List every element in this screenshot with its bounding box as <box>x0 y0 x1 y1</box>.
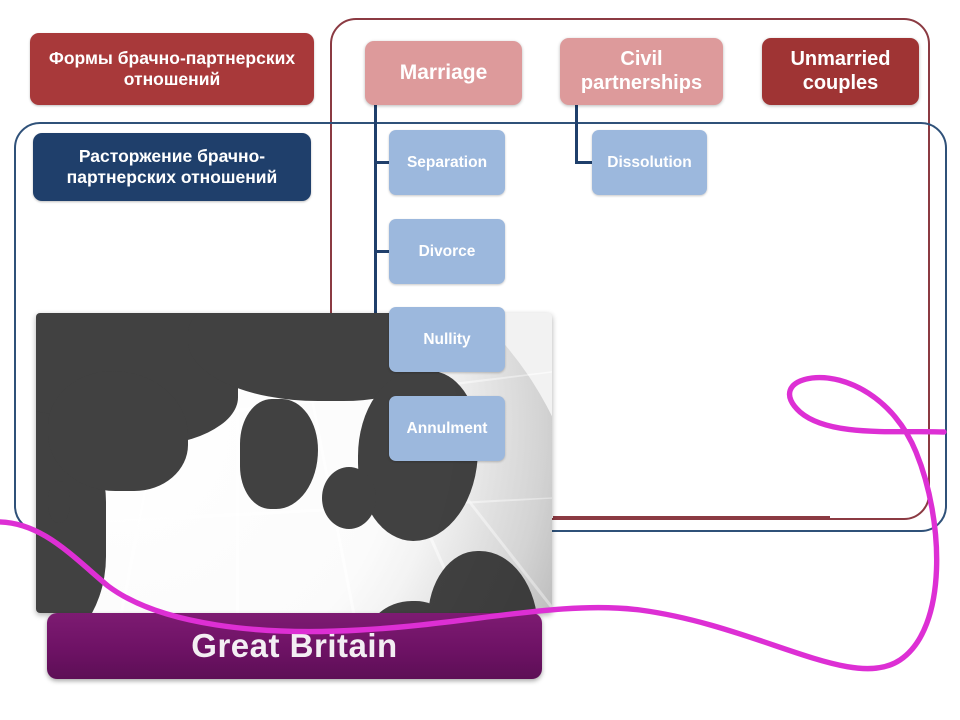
node-unmarried-couples[interactable]: Unmarried couples <box>762 38 919 105</box>
divider-rule-maroon <box>553 516 830 519</box>
node-marriage[interactable]: Marriage <box>365 41 522 105</box>
connector-civil-trunk <box>575 105 578 163</box>
connector-marriage-divorce <box>374 250 390 253</box>
banner-great-britain: Great Britain <box>47 613 542 679</box>
node-separation[interactable]: Separation <box>389 130 505 195</box>
node-civil-partnerships[interactable]: Civil partnerships <box>560 38 723 105</box>
node-dissolution[interactable]: Dissolution <box>592 130 707 195</box>
node-nullity[interactable]: Nullity <box>389 307 505 372</box>
connector-civil-dissolution <box>575 161 593 164</box>
node-annulment[interactable]: Annulment <box>389 396 505 461</box>
connector-marriage-separation <box>374 161 390 164</box>
slide-canvas: Формы брачно-партнерских отношений Расто… <box>0 0 960 720</box>
label-dissolution-of-relationships: Расторжение брачно-партнерских отношений <box>33 133 311 201</box>
label-forms-of-relationships: Формы брачно-партнерских отношений <box>30 33 314 105</box>
node-divorce[interactable]: Divorce <box>389 219 505 284</box>
